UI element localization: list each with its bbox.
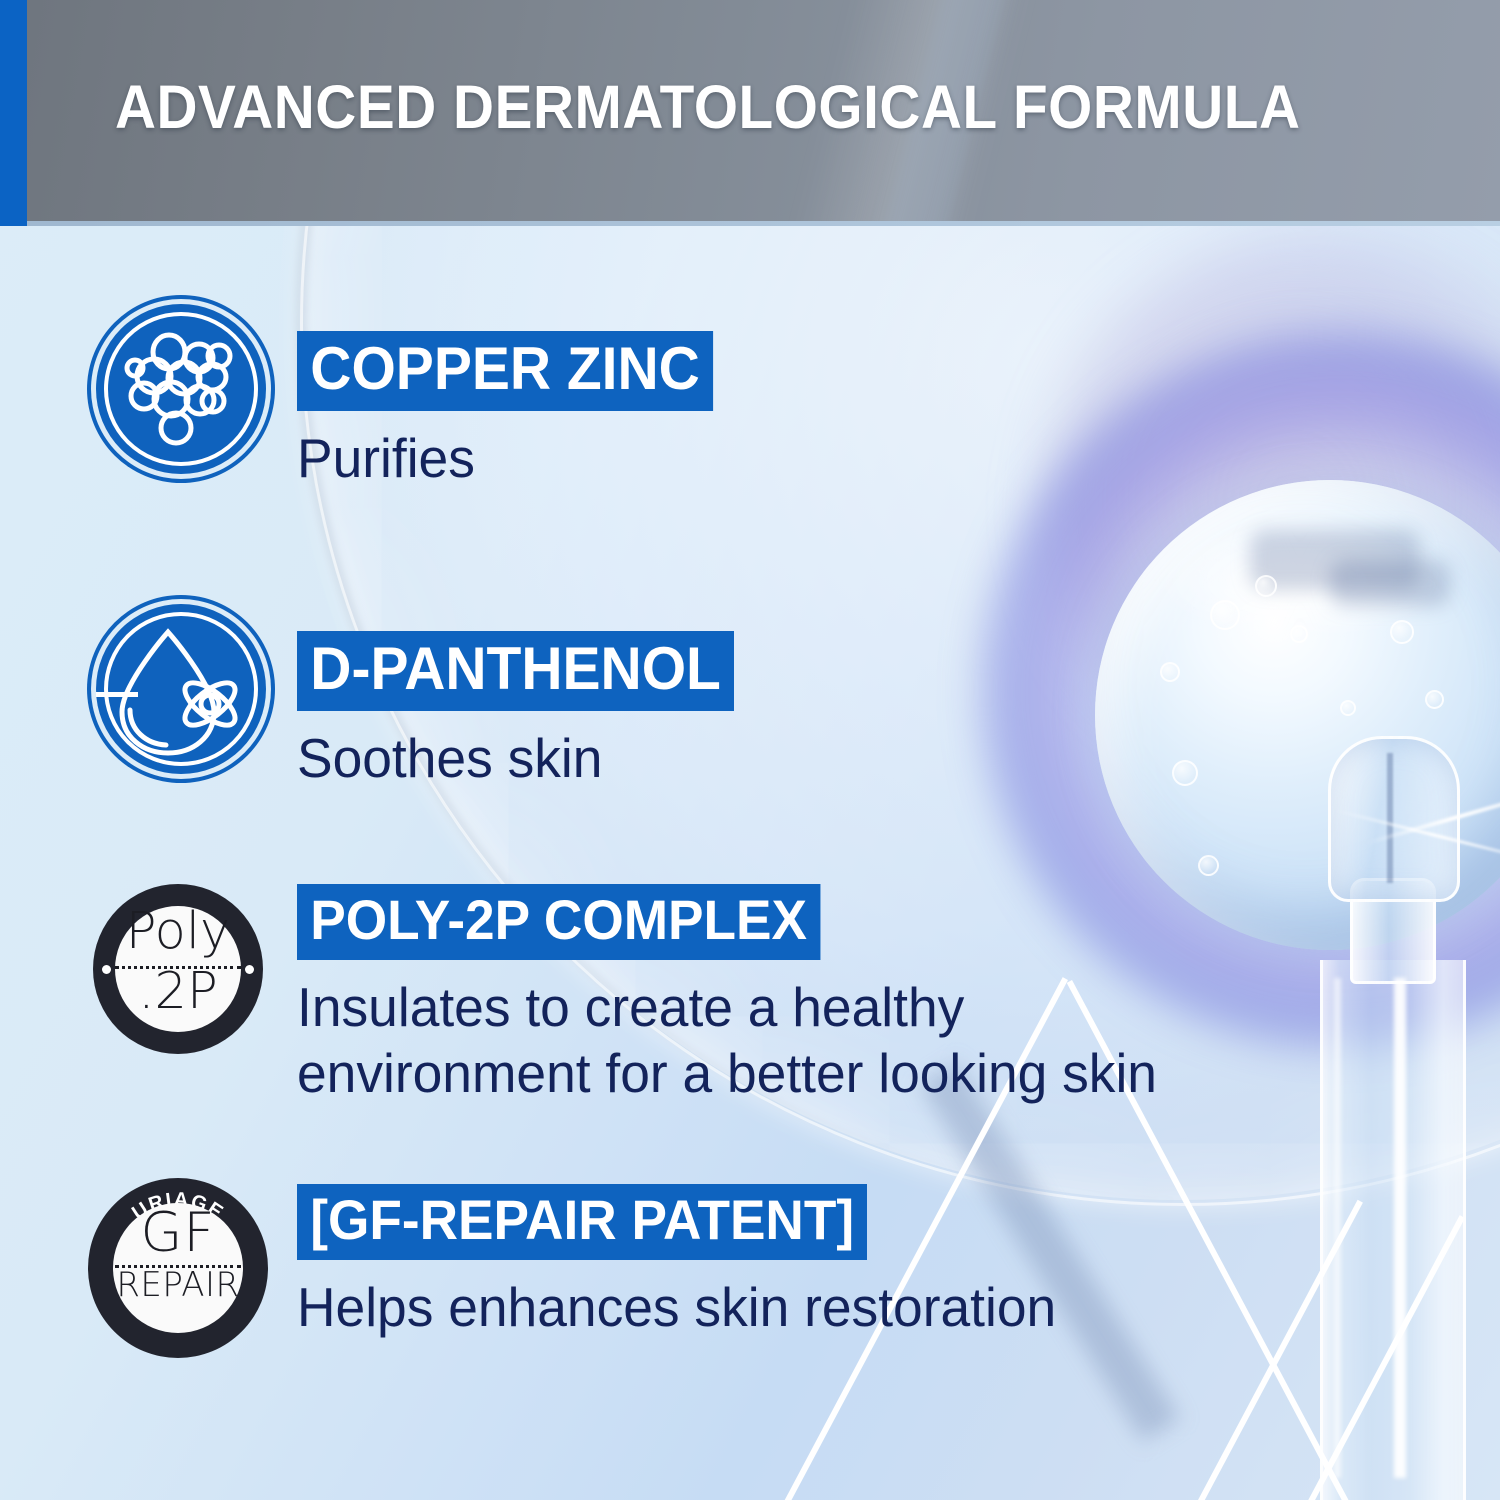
d-panthenol-icon bbox=[96, 604, 266, 774]
feature-list: COPPER ZINC Purifies bbox=[0, 226, 1500, 1500]
badge-poly-bottom: .2P bbox=[115, 962, 241, 1021]
feature-title: D-PANTHENOL bbox=[297, 631, 734, 711]
badge-inner: Poly .2P bbox=[115, 906, 241, 1032]
badge-gf-top: GF bbox=[113, 1201, 243, 1264]
gf-repair-badge-icon: URIAGE BREVET • PATENT GF REPAIR bbox=[88, 1178, 268, 1358]
icon-circle bbox=[96, 304, 266, 474]
badge-inner: GF REPAIR bbox=[113, 1203, 243, 1333]
badge-dot bbox=[245, 965, 254, 974]
feature-description: Soothes skin bbox=[297, 727, 743, 791]
badge-poly-top: Poly bbox=[115, 902, 241, 961]
feature-description-line1: Insulates to create a healthy bbox=[297, 976, 1157, 1040]
feature-title: COPPER ZINC bbox=[297, 331, 713, 411]
badge-gf-bottom: REPAIR bbox=[113, 1265, 243, 1305]
feature-description: Purifies bbox=[297, 427, 722, 491]
feature-description-line2: environment for a better looking skin bbox=[297, 1042, 1157, 1106]
feature-description: Helps enhances skin restoration bbox=[297, 1276, 1056, 1340]
accent-bar bbox=[0, 0, 27, 226]
poly-2p-badge-icon: Poly .2P bbox=[93, 884, 263, 1054]
icon-inner-ring bbox=[104, 312, 258, 466]
badge-dot bbox=[102, 965, 111, 974]
icon-inner-ring bbox=[104, 612, 258, 766]
feature-title: POLY-2P COMPLEX bbox=[297, 884, 820, 960]
page-title: ADVANCED DERMATOLOGICAL FORMULA bbox=[115, 72, 1300, 142]
badge-ring: Poly .2P bbox=[93, 884, 263, 1054]
badge-ring: URIAGE BREVET • PATENT GF REPAIR bbox=[88, 1178, 268, 1358]
icon-circle bbox=[96, 604, 266, 774]
infographic-canvas: ADVANCED DERMATOLOGICAL FORMULA bbox=[0, 0, 1500, 1500]
copper-zinc-icon bbox=[96, 304, 266, 474]
feature-title: [GF-REPAIR PATENT] bbox=[297, 1184, 867, 1260]
